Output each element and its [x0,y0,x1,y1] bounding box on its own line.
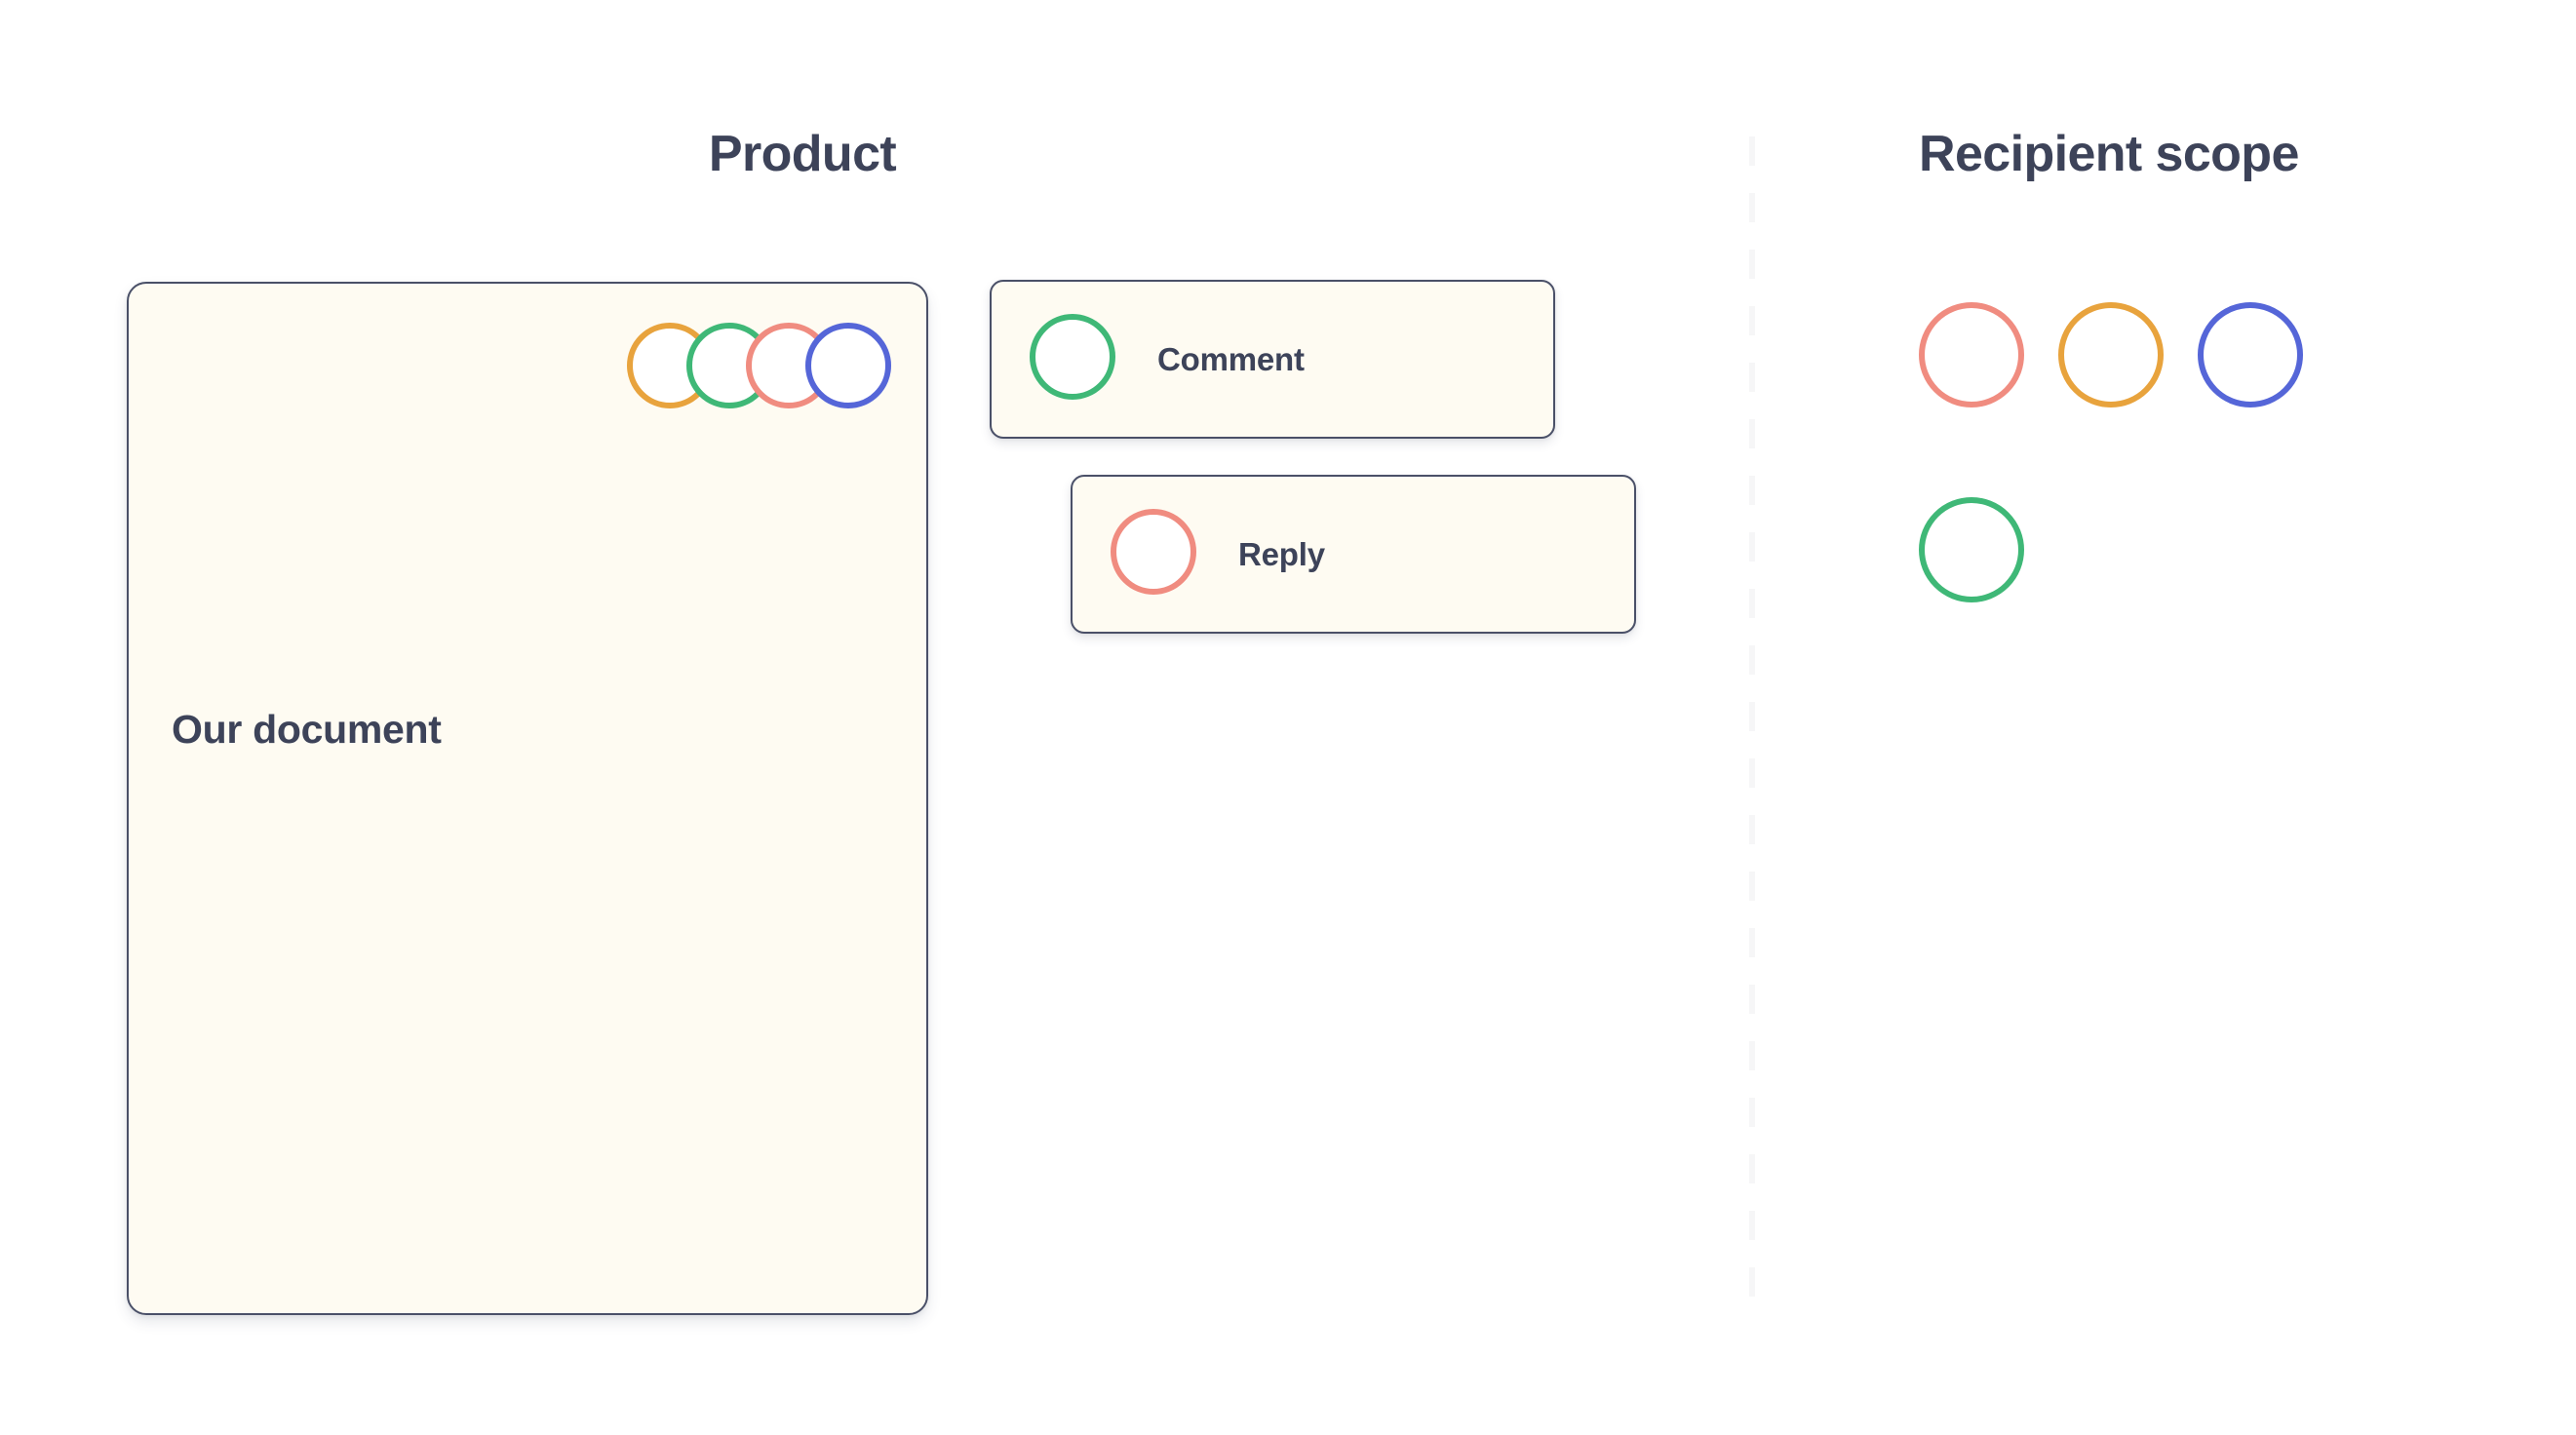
recipient-scope-list [1919,302,2465,692]
avatar-photo [1115,514,1191,590]
avatar-photo [1924,307,2019,403]
reply-card[interactable]: Reply [1071,475,1636,634]
avatar-photo [810,328,886,404]
vertical-dashed-divider [1749,136,1755,1316]
comment-label: Comment [1157,341,1305,378]
document-title: Our document [172,707,442,753]
avatar-photo [2203,307,2298,403]
nedry-blue-avatar[interactable] [1919,497,2024,602]
avatar-photo [1034,319,1111,395]
hammond-avatar[interactable] [805,323,891,408]
nedry-avatar[interactable] [1919,302,2024,407]
comment-card[interactable]: Comment [990,280,1555,439]
reply-label: Reply [1238,536,1325,573]
nedry-avatar[interactable] [1111,509,1196,595]
ellie-avatar[interactable] [2058,302,2164,407]
nedry-blue-avatar[interactable] [1030,314,1115,400]
diagram-canvas: Product Recipient scope Our document Com… [0,0,2576,1435]
hammond-avatar[interactable] [2198,302,2303,407]
avatar-photo [2063,307,2159,403]
document-panel[interactable]: Our document [127,282,928,1315]
avatar-photo [1924,502,2019,598]
recipient-scope-row [1919,497,2465,602]
document-collaborator-avatars [627,323,891,408]
comment-avatar [1030,314,1115,405]
product-column-heading: Product [709,125,896,183]
reply-avatar [1111,509,1196,600]
recipient-scope-column-heading: Recipient scope [1919,125,2299,183]
recipient-scope-row [1919,302,2465,407]
